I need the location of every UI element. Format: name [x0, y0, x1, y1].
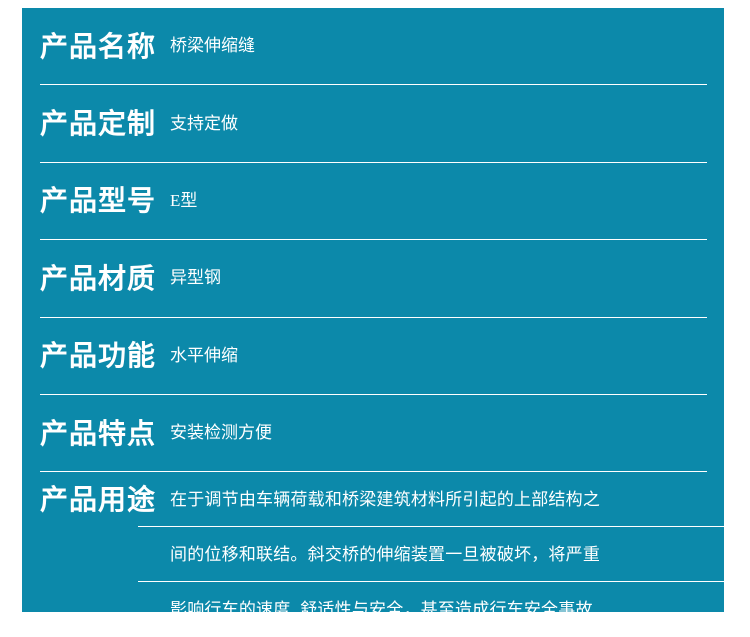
- spec-row-model: 产品型号 E型: [22, 163, 724, 240]
- spec-row-function: 产品功能 水平伸缩: [22, 318, 724, 395]
- spec-row-product-name: 产品名称 桥梁伸缩缝: [22, 8, 724, 85]
- spec-value-usage-line-1: 在于调节由车辆荷载和桥梁建筑材料所引起的上部结构之: [170, 472, 724, 527]
- spec-label-customization: 产品定制: [40, 110, 156, 138]
- spec-row-customization: 产品定制 支持定做: [22, 85, 724, 162]
- product-spec-card: 产品名称 桥梁伸缩缝 产品定制 支持定做 产品型号 E型 产品材质 异型钢 产品…: [22, 8, 724, 612]
- spec-row-list: 产品名称 桥梁伸缩缝 产品定制 支持定做 产品型号 E型 产品材质 异型钢 产品…: [22, 8, 724, 637]
- spec-value-usage-line-3: 影响行车的速度. 舒适性与安全，甚至造成行车安全事故: [170, 582, 724, 637]
- spec-label-product-name: 产品名称: [40, 33, 156, 61]
- spec-value-usage-line-2: 间的位移和联结。斜交桥的伸缩装置一旦被破坏，将严重: [170, 527, 724, 582]
- spec-label-model: 产品型号: [40, 187, 156, 215]
- spec-value-usage: 在于调节由车辆荷载和桥梁建筑材料所引起的上部结构之 间的位移和联结。斜交桥的伸缩…: [170, 472, 724, 637]
- spec-row-features: 产品特点 安装检测方便: [22, 395, 724, 472]
- spec-value-material: 异型钢: [170, 269, 221, 288]
- spec-label-usage: 产品用途: [40, 472, 156, 514]
- spec-value-features: 安装检测方便: [170, 424, 272, 443]
- spec-value-model: E型: [170, 192, 197, 211]
- spec-value-function: 水平伸缩: [170, 347, 238, 366]
- spec-value-product-name: 桥梁伸缩缝: [170, 37, 255, 56]
- spec-label-function: 产品功能: [40, 342, 156, 370]
- spec-row-usage: 产品用途 在于调节由车辆荷载和桥梁建筑材料所引起的上部结构之 间的位移和联结。斜…: [22, 472, 724, 637]
- spec-value-customization: 支持定做: [170, 115, 238, 134]
- spec-label-features: 产品特点: [40, 420, 156, 448]
- spec-row-material: 产品材质 异型钢: [22, 240, 724, 317]
- spec-label-material: 产品材质: [40, 265, 156, 293]
